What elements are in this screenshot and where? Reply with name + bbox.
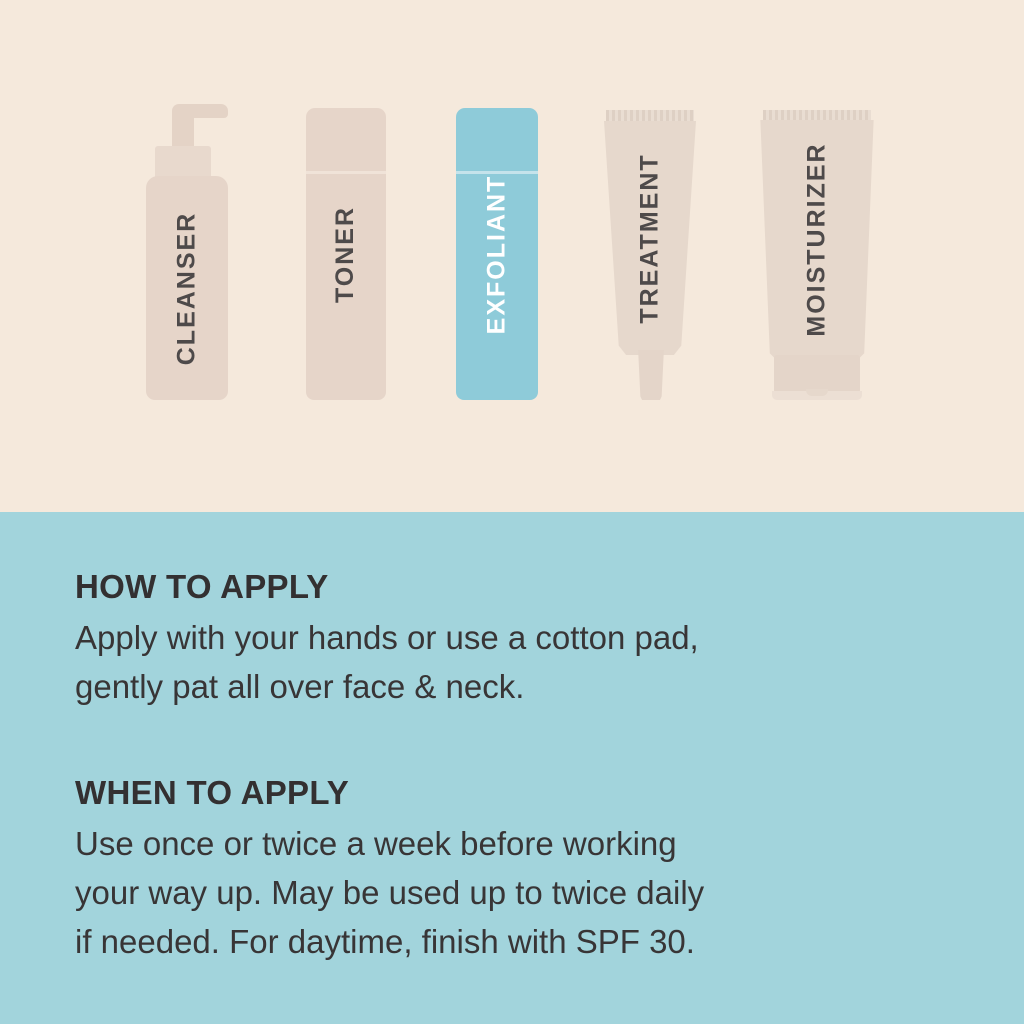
bottle-body: TONER — [306, 108, 386, 400]
product-label-treatment: TREATMENT — [638, 153, 663, 323]
product-label-toner: TONER — [334, 205, 359, 302]
product-label-wrapper: MOISTURIZER — [758, 120, 876, 358]
how-to-apply-heading: HOW TO APPLY — [75, 568, 955, 606]
when-line-3: if needed. For daytime, finish with SPF … — [75, 918, 955, 967]
pump-stem-icon — [172, 114, 194, 148]
tube-body: TREATMENT — [604, 121, 696, 355]
when-to-apply-body: Use once or twice a week before working … — [75, 820, 955, 966]
product-exfoliant[interactable]: EXFOLIANT — [456, 108, 538, 400]
flip-cap-icon — [774, 355, 860, 393]
how-to-apply-body: Apply with your hands or use a cotton pa… — [75, 614, 955, 712]
product-label-wrapper: EXFOLIANT — [456, 108, 538, 400]
product-label-cleanser: CLEANSER — [175, 211, 200, 365]
when-to-apply-block: WHEN TO APPLY Use once or twice a week b… — [75, 774, 955, 966]
instructions-panel: HOW TO APPLY Apply with your hands or us… — [0, 512, 1024, 1024]
tube-nozzle-icon — [637, 350, 665, 400]
product-label-wrapper: TREATMENT — [604, 121, 696, 355]
tube-body: MOISTURIZER — [758, 120, 876, 358]
product-label-wrapper: TONER — [306, 108, 386, 400]
bottle-body-highlighted: EXFOLIANT — [456, 108, 538, 400]
product-label-exfoliant: EXFOLIANT — [485, 174, 510, 334]
product-lineup-panel: CLEANSER TONER EXFOLIANT — [0, 0, 1024, 512]
how-line-1: Apply with your hands or use a cotton pa… — [75, 614, 955, 663]
tube-crimp-icon — [606, 110, 694, 121]
flip-cap-notch-icon — [806, 389, 828, 396]
when-line-2: your way up. May be used up to twice dai… — [75, 869, 955, 918]
how-to-apply-block: HOW TO APPLY Apply with your hands or us… — [75, 568, 955, 712]
product-label-wrapper: CLEANSER — [146, 176, 228, 400]
pump-collar-icon — [155, 146, 211, 180]
product-moisturizer[interactable]: MOISTURIZER — [758, 110, 876, 400]
when-line-1: Use once or twice a week before working — [75, 820, 955, 869]
when-to-apply-heading: WHEN TO APPLY — [75, 774, 955, 812]
tube-crimp-icon — [763, 110, 871, 120]
bottle-body: CLEANSER — [146, 176, 228, 400]
how-line-2: gently pat all over face & neck. — [75, 663, 955, 712]
product-cleanser[interactable]: CLEANSER — [146, 104, 228, 400]
product-treatment[interactable]: TREATMENT — [604, 110, 696, 400]
product-toner[interactable]: TONER — [306, 108, 386, 400]
product-label-moisturizer: MOISTURIZER — [805, 142, 830, 336]
infographic-page: CLEANSER TONER EXFOLIANT — [0, 0, 1024, 1024]
